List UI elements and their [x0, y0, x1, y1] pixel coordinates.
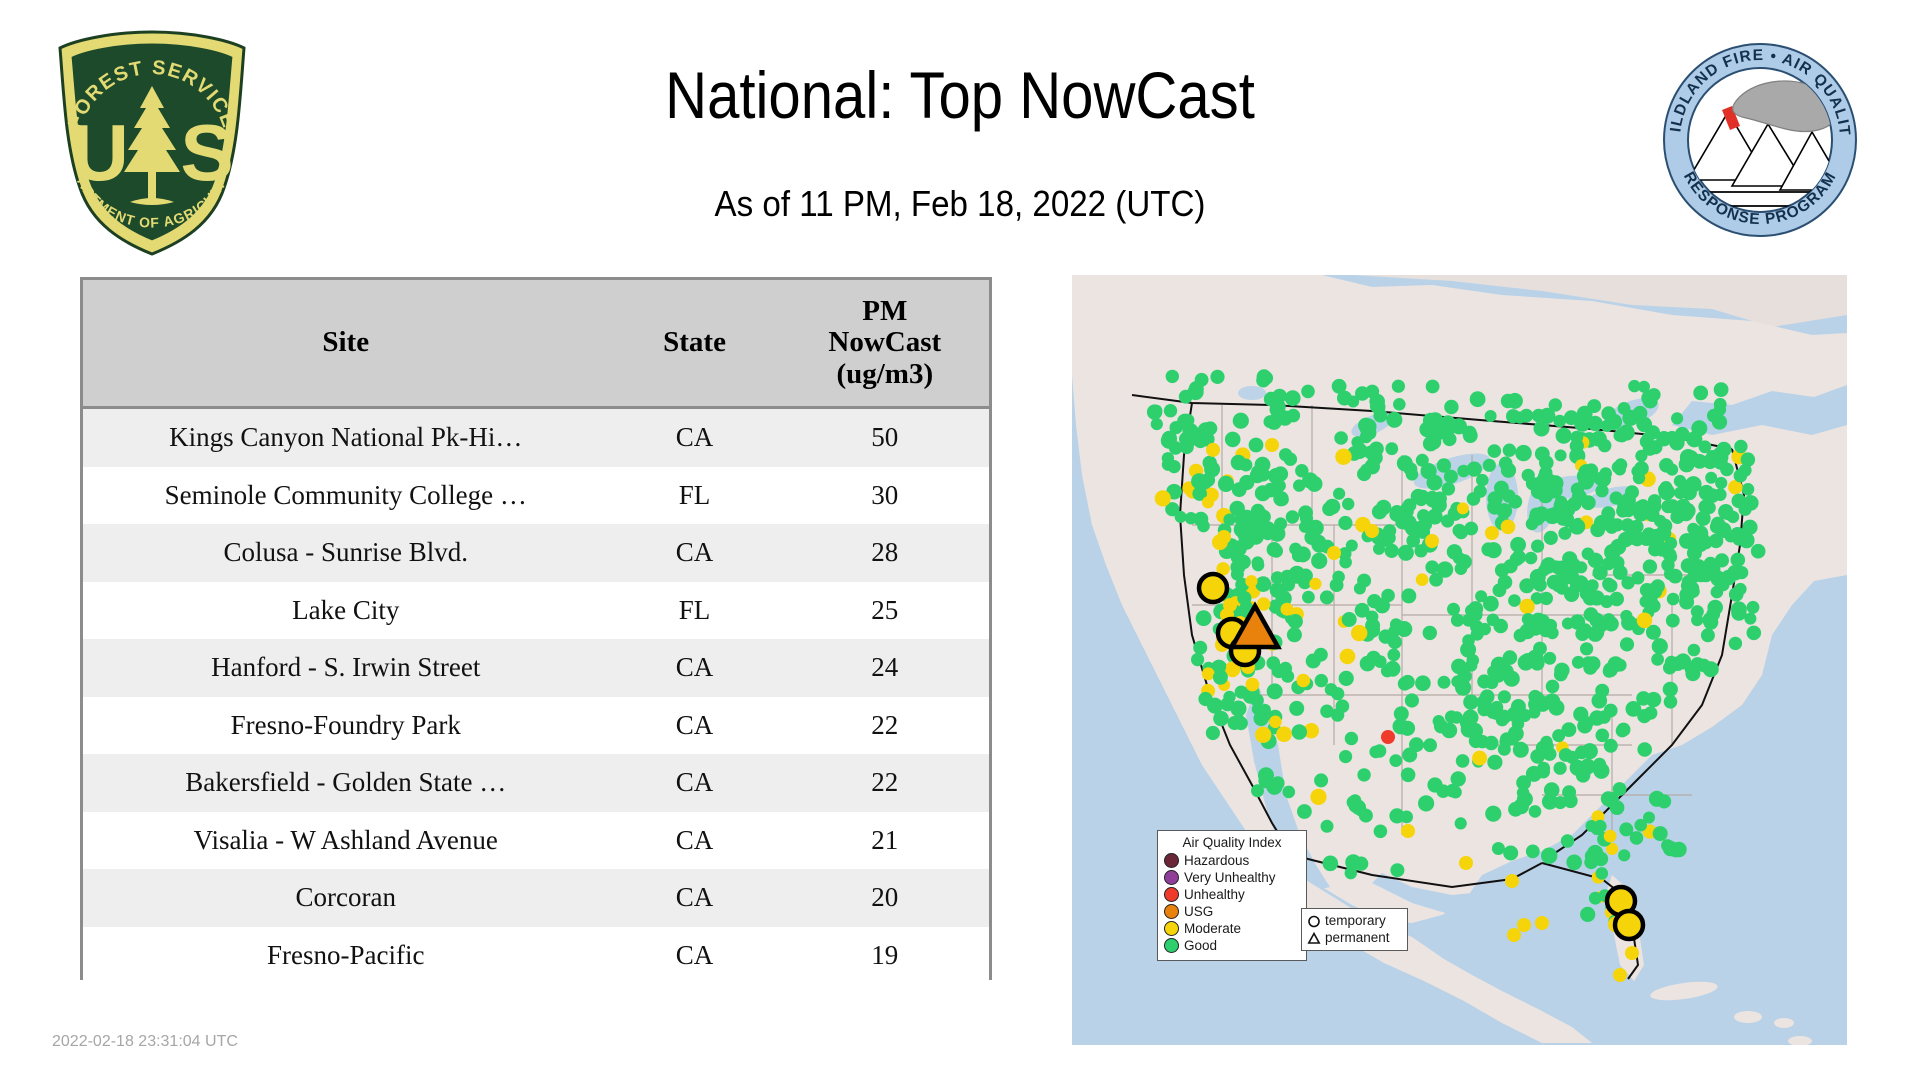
monitor-dot-good[interactable] [1334, 431, 1348, 445]
monitor-dot-good[interactable] [1251, 784, 1264, 797]
monitor-dot-good[interactable] [1570, 431, 1583, 444]
monitor-dot-good[interactable] [1525, 552, 1538, 565]
monitor-dot-good[interactable] [1276, 494, 1288, 506]
monitor-dot-good[interactable] [1688, 644, 1701, 657]
monitor-dot-moderate[interactable] [1245, 575, 1257, 587]
monitor-dot-good[interactable] [1213, 711, 1229, 727]
monitor-dot-good[interactable] [1700, 537, 1713, 550]
monitor-dot-good[interactable] [1665, 656, 1678, 669]
monitor-dot-good[interactable] [1330, 578, 1344, 592]
monitor-dot-moderate[interactable] [1501, 520, 1516, 535]
monitor-dot-good[interactable] [1594, 820, 1607, 833]
monitor-dot-good[interactable] [1258, 767, 1274, 783]
monitor-dot-good[interactable] [1686, 431, 1702, 447]
monitor-dot-good[interactable] [1400, 721, 1415, 736]
monitor-dot-good[interactable] [1596, 867, 1609, 880]
monitor-dot-good[interactable] [1519, 578, 1534, 593]
monitor-dot-good[interactable] [1571, 483, 1584, 496]
monitor-dot-good[interactable] [1417, 509, 1430, 522]
monitor-dot-good[interactable] [1175, 511, 1187, 523]
monitor-dot-good[interactable] [1484, 736, 1498, 750]
monitor-dot-good[interactable] [1648, 440, 1662, 454]
monitor-dot-good[interactable] [1460, 642, 1476, 658]
table-row[interactable]: Kings Canyon National Pk-Hi…CA50 [83, 408, 989, 467]
monitor-dot-good[interactable] [1423, 738, 1437, 752]
monitor-dot-good[interactable] [1580, 907, 1595, 922]
monitor-dot-good[interactable] [1206, 726, 1220, 740]
monitor-dot-good[interactable] [1198, 692, 1212, 706]
monitor-dot-good[interactable] [1267, 683, 1283, 699]
monitor-dot-good[interactable] [1314, 773, 1328, 787]
monitor-dot-good[interactable] [1732, 494, 1747, 509]
monitor-dot-moderate[interactable] [1613, 968, 1627, 982]
monitor-dot-good[interactable] [1374, 598, 1390, 614]
monitor-dot-good[interactable] [1668, 569, 1683, 584]
monitor-dot-good[interactable] [1620, 495, 1635, 510]
monitor-dot-good[interactable] [1168, 460, 1181, 473]
monitor-dot-good[interactable] [1615, 428, 1630, 443]
monitor-dot-good[interactable] [1698, 568, 1713, 583]
monitor-dot-good[interactable] [1707, 600, 1723, 616]
monitor-dot-good[interactable] [1503, 650, 1518, 665]
monitor-dot-good[interactable] [1297, 804, 1312, 819]
monitor-dot-good[interactable] [1286, 510, 1299, 523]
monitor-dot-good[interactable] [1292, 724, 1307, 739]
monitor-dot-good[interactable] [1718, 504, 1733, 519]
monitor-dot-good[interactable] [1333, 488, 1345, 500]
monitor-dot-good[interactable] [1533, 642, 1547, 656]
monitor-dot-good[interactable] [1741, 452, 1755, 466]
monitor-dot-good[interactable] [1617, 723, 1631, 737]
monitor-dot-good[interactable] [1268, 468, 1284, 484]
table-row[interactable]: CorcoranCA20 [83, 869, 989, 927]
monitor-dot-good[interactable] [1734, 440, 1747, 453]
monitor-dot-good[interactable] [1426, 380, 1440, 394]
monitor-dot-good[interactable] [1357, 574, 1371, 588]
monitor-dot-good[interactable] [1556, 428, 1572, 444]
monitor-dot-good[interactable] [1481, 542, 1495, 556]
monitor-dot-good[interactable] [1583, 661, 1597, 675]
table-row[interactable]: Hanford - S. Irwin StreetCA24 [83, 639, 989, 697]
monitor-dot-good[interactable] [1213, 670, 1228, 685]
monitor-dot-good[interactable] [1302, 591, 1315, 604]
monitor-dot-moderate[interactable] [1309, 578, 1321, 590]
monitor-dot-good[interactable] [1390, 618, 1403, 631]
monitor-dot-good[interactable] [1546, 680, 1560, 694]
monitor-dot-good[interactable] [1185, 512, 1197, 524]
monitor-dot-good[interactable] [1506, 409, 1520, 423]
monitor-dot-good[interactable] [1164, 404, 1177, 417]
monitor-dot-good[interactable] [1720, 463, 1734, 477]
monitor-dot-good[interactable] [1501, 463, 1516, 478]
monitor-dot-good[interactable] [1735, 566, 1748, 579]
monitor-dot-good[interactable] [1392, 380, 1405, 393]
monitor-dot-good[interactable] [1660, 481, 1673, 494]
monitor-dot-good[interactable] [1477, 674, 1491, 688]
monitor-dot-moderate[interactable] [1335, 449, 1351, 465]
monitor-dot-good[interactable] [1530, 656, 1545, 671]
monitor-dot-good[interactable] [1398, 677, 1412, 691]
monitor-dot-good[interactable] [1711, 586, 1724, 599]
monitor-dot-good[interactable] [1307, 476, 1323, 492]
monitor-dot-good[interactable] [1630, 520, 1644, 534]
monitor-dot-good[interactable] [1661, 500, 1675, 514]
monitor-dot-good[interactable] [1583, 591, 1598, 606]
monitor-dot-good[interactable] [1576, 768, 1591, 783]
table-row[interactable]: Lake CityFL25 [83, 582, 989, 640]
monitor-dot-good[interactable] [1364, 459, 1380, 475]
monitor-dot-good[interactable] [1651, 653, 1664, 666]
monitor-dot-good[interactable] [1470, 391, 1486, 407]
monitor-dot-good[interactable] [1618, 849, 1630, 861]
monitor-dot-good[interactable] [1485, 806, 1501, 822]
monitor-dot-good[interactable] [1270, 582, 1286, 598]
monitor-dot-good[interactable] [1734, 469, 1748, 483]
monitor-dot-good[interactable] [1301, 385, 1315, 399]
monitor-dot-good[interactable] [1714, 488, 1727, 501]
monitor-dot-good[interactable] [1307, 520, 1323, 536]
monitor-dot-good[interactable] [1531, 540, 1544, 553]
monitor-dot-good[interactable] [1664, 695, 1678, 709]
monitor-dot-good[interactable] [1461, 721, 1477, 737]
monitor-dot-good[interactable] [1488, 491, 1503, 506]
monitor-dot-good[interactable] [1515, 445, 1531, 461]
table-row[interactable]: Visalia - W Ashland AvenueCA21 [83, 812, 989, 870]
monitor-dot-moderate[interactable] [1281, 603, 1294, 616]
monitor-dot-good[interactable] [1634, 819, 1647, 832]
monitor-dot-good[interactable] [1602, 557, 1615, 570]
monitor-dot-moderate[interactable] [1202, 667, 1215, 680]
monitor-dot-good[interactable] [1218, 476, 1234, 492]
monitor-dot-good[interactable] [1561, 834, 1574, 847]
monitor-dot-good[interactable] [1587, 626, 1603, 642]
table-row[interactable]: Colusa - Sunrise Blvd.CA28 [83, 524, 989, 582]
monitor-dot-good[interactable] [1520, 623, 1536, 639]
monitor-dot-good[interactable] [1231, 455, 1246, 470]
monitor-dot-moderate[interactable] [1401, 824, 1415, 838]
monitor-dot-good[interactable] [1483, 596, 1499, 612]
monitor-dot-good[interactable] [1603, 514, 1615, 526]
monitor-dot-good[interactable] [1562, 785, 1576, 799]
monitor-dot-good[interactable] [1731, 605, 1746, 620]
monitor-dot-good[interactable] [1513, 742, 1529, 758]
monitor-dot-good[interactable] [1604, 579, 1618, 593]
table-row[interactable]: Seminole Community College …FL30 [83, 467, 989, 525]
monitor-dot-moderate[interactable] [1276, 726, 1292, 742]
monitor-dot-good[interactable] [1552, 729, 1565, 742]
monitor-dot-good[interactable] [1715, 553, 1729, 567]
monitor-dot-good[interactable] [1603, 665, 1616, 678]
monitor-dot-good[interactable] [1447, 544, 1462, 559]
monitor-dot-good[interactable] [1271, 571, 1284, 584]
monitor-dot-good[interactable] [1591, 431, 1607, 447]
monitor-dot-good[interactable] [1483, 459, 1496, 472]
monitor-dot-good[interactable] [1293, 479, 1305, 491]
monitor-dot-good[interactable] [1374, 655, 1387, 668]
monitor-dot-good[interactable] [1665, 537, 1678, 550]
monitor-dot-good[interactable] [1540, 592, 1553, 605]
monitor-dot-good[interactable] [1731, 553, 1746, 568]
monitor-dot-good[interactable] [1609, 592, 1624, 607]
monitor-dot-good[interactable] [1342, 498, 1354, 510]
monitor-dot-good[interactable] [1679, 587, 1694, 602]
monitor-dot-good[interactable] [1456, 754, 1470, 768]
monitor-dot-moderate[interactable] [1459, 856, 1473, 870]
monitor-dot-good[interactable] [1747, 601, 1760, 614]
monitor-dot-good[interactable] [1269, 544, 1283, 558]
monitor-dot-good[interactable] [1529, 805, 1542, 818]
monitor-dot-good[interactable] [1423, 626, 1437, 640]
monitor-dot-good[interactable] [1633, 406, 1648, 421]
monitor-dot-good[interactable] [1566, 855, 1582, 871]
monitor-dot-good[interactable] [1315, 674, 1328, 687]
monitor-dot-good[interactable] [1372, 504, 1387, 519]
monitor-dot-moderate[interactable] [1255, 727, 1271, 743]
monitor-dot-good[interactable] [1588, 553, 1603, 568]
monitor-dot-good[interactable] [1233, 413, 1249, 429]
monitor-dot-good[interactable] [1345, 854, 1361, 870]
monitor-dot-good[interactable] [1637, 499, 1650, 512]
monitor-dot-good[interactable] [1454, 526, 1468, 540]
monitor-dot-good[interactable] [1742, 483, 1755, 496]
monitor-dot-good[interactable] [1416, 454, 1429, 467]
monitor-dot-good[interactable] [1311, 553, 1327, 569]
monitor-dot-good[interactable] [1599, 467, 1612, 480]
monitor-dot-good[interactable] [1467, 492, 1481, 506]
table-row[interactable]: Fresno-Foundry ParkCA22 [83, 697, 989, 755]
monitor-dot-good[interactable] [1531, 483, 1547, 499]
monitor-dot-moderate[interactable] [1202, 496, 1214, 508]
monitor-dot-good[interactable] [1395, 516, 1409, 530]
monitor-dot-good[interactable] [1230, 701, 1246, 717]
monitor-dot-good[interactable] [1663, 682, 1678, 697]
monitor-dot-good[interactable] [1590, 522, 1605, 537]
monitor-dot-good[interactable] [1485, 410, 1497, 422]
monitor-dot-good[interactable] [1337, 391, 1352, 406]
monitor-dot-good[interactable] [1548, 507, 1562, 521]
monitor-dot-good[interactable] [1533, 578, 1547, 592]
monitor-dot-good[interactable] [1438, 676, 1451, 689]
monitor-dot-good[interactable] [1669, 435, 1684, 450]
monitor-dot-good[interactable] [1281, 670, 1294, 683]
monitor-dot-good[interactable] [1492, 842, 1505, 855]
monitor-dot-good[interactable] [1559, 748, 1573, 762]
monitor-dot-good[interactable] [1385, 442, 1398, 455]
monitor-dot-good[interactable] [1587, 399, 1601, 413]
monitor-dot-good[interactable] [1537, 765, 1550, 778]
monitor-dot-good[interactable] [1554, 762, 1567, 775]
monitor-dot-moderate[interactable] [1535, 916, 1549, 930]
monitor-dot-good[interactable] [1455, 562, 1468, 575]
monitor-dot-good[interactable] [1638, 381, 1650, 393]
monitor-dot-good[interactable] [1633, 472, 1645, 484]
monitor-dot-good[interactable] [1223, 514, 1235, 526]
monitor-dot-good[interactable] [1349, 798, 1363, 812]
monitor-dot-good[interactable] [1339, 671, 1354, 686]
monitor-dot-good[interactable] [1210, 370, 1224, 384]
monitor-dot-good[interactable] [1263, 483, 1278, 498]
monitor-dot-moderate[interactable] [1425, 534, 1439, 548]
monitor-dot-good[interactable] [1255, 523, 1269, 537]
monitor-dot-good[interactable] [1289, 543, 1302, 556]
monitor-dot-good[interactable] [1372, 400, 1386, 414]
monitor-dot-good[interactable] [1322, 502, 1336, 516]
monitor-dot-moderate[interactable] [1246, 678, 1260, 692]
monitor-dot-good[interactable] [1231, 552, 1243, 564]
monitor-dot-good[interactable] [1682, 575, 1695, 588]
monitor-dot-moderate[interactable] [1351, 625, 1367, 641]
monitor-dot-good[interactable] [1339, 750, 1352, 763]
monitor-dot-good[interactable] [1553, 415, 1566, 428]
monitor-dot-good[interactable] [1147, 404, 1162, 419]
monitor-dot-good[interactable] [1288, 614, 1303, 629]
monitor-dot-good[interactable] [1283, 786, 1296, 799]
monitor-dot-good[interactable] [1320, 705, 1333, 718]
monitor-dot-good[interactable] [1493, 670, 1506, 683]
monitor-dot-good[interactable] [1653, 826, 1668, 841]
monitor-dot-good[interactable] [1487, 755, 1502, 770]
monitor-dot-good[interactable] [1541, 848, 1557, 864]
monitor-dot-good[interactable] [1405, 693, 1419, 707]
monitor-dot-good[interactable] [1463, 694, 1478, 709]
monitor-dot-good[interactable] [1314, 648, 1328, 662]
monitor-dot-good[interactable] [1321, 820, 1334, 833]
monitor-dot-good[interactable] [1366, 611, 1379, 624]
monitor-dot-good[interactable] [1604, 704, 1618, 718]
monitor-dot-moderate[interactable] [1327, 546, 1341, 560]
monitor-dot-moderate[interactable] [1297, 674, 1311, 688]
monitor-dot-good[interactable] [1400, 811, 1413, 824]
monitor-dot-good[interactable] [1235, 686, 1248, 699]
monitor-dot-good[interactable] [1620, 637, 1634, 651]
monitor-dot-good[interactable] [1189, 381, 1204, 396]
monitor-dot-good[interactable] [1637, 742, 1652, 757]
monitor-dot-good[interactable] [1646, 692, 1661, 707]
monitor-dot-good[interactable] [1538, 564, 1550, 576]
monitor-dot-good[interactable] [1658, 519, 1672, 533]
monitor-dot-good[interactable] [1729, 637, 1742, 650]
monitor-dot-good[interactable] [1490, 701, 1503, 714]
monitor-dot-good[interactable] [1203, 421, 1217, 435]
monitor-dot-good[interactable] [1522, 613, 1534, 625]
monitor-dot-good[interactable] [1480, 689, 1495, 704]
monitor-dot-good[interactable] [1425, 560, 1439, 574]
monitor-dot-good[interactable] [1631, 534, 1644, 547]
monitor-dot-good[interactable] [1744, 613, 1756, 625]
monitor-dot-good[interactable] [1554, 796, 1567, 809]
monitor-dot-good[interactable] [1589, 892, 1602, 905]
monitor-dot-good[interactable] [1659, 458, 1674, 473]
table-row[interactable]: Fresno-PacificCA19 [83, 927, 989, 985]
monitor-dot-good[interactable] [1610, 800, 1625, 815]
monitor-dot-moderate[interactable] [1485, 526, 1499, 540]
monitor-dot-good[interactable] [1581, 495, 1596, 510]
monitor-dot-good[interactable] [1554, 668, 1568, 682]
monitor-dot-good[interactable] [1747, 626, 1762, 641]
monitor-dot-good[interactable] [1393, 398, 1406, 411]
monitor-dot-good[interactable] [1457, 465, 1470, 478]
monitor-dot-good[interactable] [1298, 505, 1313, 520]
monitor-dot-good[interactable] [1360, 431, 1373, 444]
monitor-dot-good[interactable] [1433, 715, 1445, 727]
monitor-dot-good[interactable] [1320, 590, 1334, 604]
monitor-dot-good[interactable] [1238, 534, 1254, 550]
monitor-dot-good[interactable] [1499, 735, 1512, 748]
monitor-dot-moderate[interactable] [1310, 789, 1326, 805]
monitor-dot-moderate[interactable] [1223, 598, 1237, 612]
monitor-dot-good[interactable] [1285, 390, 1301, 406]
monitor-dot-good[interactable] [1555, 449, 1567, 461]
monitor-dot-good[interactable] [1690, 657, 1705, 672]
monitor-dot-good[interactable] [1549, 700, 1565, 716]
monitor-dot-good[interactable] [1606, 414, 1622, 430]
monitor-dot-good[interactable] [1388, 635, 1402, 649]
monitor-dot-good[interactable] [1685, 476, 1701, 492]
monitor-dot-moderate[interactable] [1507, 928, 1521, 942]
monitor-dot-good[interactable] [1270, 402, 1285, 417]
monitor-dot-good[interactable] [1342, 612, 1357, 627]
monitor-dot-good[interactable] [1691, 605, 1704, 618]
monitor-dot-good[interactable] [1517, 791, 1533, 807]
monitor-dot-good[interactable] [1613, 782, 1627, 796]
monitor-dot-good[interactable] [1618, 402, 1631, 415]
monitor-dot-good[interactable] [1151, 418, 1163, 430]
monitor-dot-good[interactable] [1663, 548, 1677, 562]
monitor-dot-good[interactable] [1415, 675, 1431, 691]
monitor-dot-moderate[interactable] [1269, 716, 1282, 729]
monitor-dot-good[interactable] [1587, 416, 1602, 431]
monitor-dot-good[interactable] [1476, 474, 1489, 487]
monitor-dot-good[interactable] [1550, 560, 1563, 573]
monitor-dot-good[interactable] [1451, 614, 1464, 627]
monitor-dot-good[interactable] [1619, 822, 1633, 836]
monitor-dot-good[interactable] [1546, 627, 1559, 640]
monitor-dot-good[interactable] [1614, 463, 1626, 475]
monitor-dot-good[interactable] [1503, 444, 1516, 457]
monitor-dot-good[interactable] [1193, 641, 1207, 655]
monitor-dot-good[interactable] [1516, 775, 1531, 790]
monitor-dot-good[interactable] [1252, 559, 1264, 571]
monitor-dot-good[interactable] [1512, 550, 1526, 564]
monitor-dot-moderate[interactable] [1505, 874, 1519, 888]
monitor-dot-good[interactable] [1714, 382, 1729, 397]
monitor-dot-good[interactable] [1338, 516, 1352, 530]
monitor-dot-good[interactable] [1508, 594, 1521, 607]
monitor-dot-good[interactable] [1204, 461, 1220, 477]
monitor-dot-moderate[interactable] [1519, 599, 1534, 614]
table-row[interactable]: Bakersfield - Golden State …CA22 [83, 754, 989, 812]
monitor-dot-good[interactable] [1389, 754, 1402, 767]
monitor-dot-good[interactable] [1526, 845, 1540, 859]
monitor-dot-good[interactable] [1647, 599, 1661, 613]
monitor-dot-good[interactable] [1444, 470, 1458, 484]
monitor-dot-good[interactable] [1249, 438, 1264, 453]
monitor-dot-good[interactable] [1501, 394, 1515, 408]
monitor-dot-good[interactable] [1652, 638, 1668, 654]
monitor-dot-good[interactable] [1734, 583, 1746, 595]
monitor-dot-good[interactable] [1180, 440, 1194, 454]
monitor-dot-good[interactable] [1635, 450, 1647, 462]
monitor-dot-good[interactable] [1724, 530, 1737, 543]
monitor-dot-good[interactable] [1498, 690, 1511, 703]
column-header-site[interactable]: Site [83, 280, 608, 408]
monitor-dot-good[interactable] [1369, 442, 1384, 457]
monitor-dot-good[interactable] [1706, 450, 1718, 462]
monitor-dot-good[interactable] [1455, 817, 1467, 829]
monitor-dot-good[interactable] [1463, 428, 1478, 443]
monitor-dot-good[interactable] [1580, 642, 1593, 655]
monitor-dot-good[interactable] [1586, 610, 1599, 623]
